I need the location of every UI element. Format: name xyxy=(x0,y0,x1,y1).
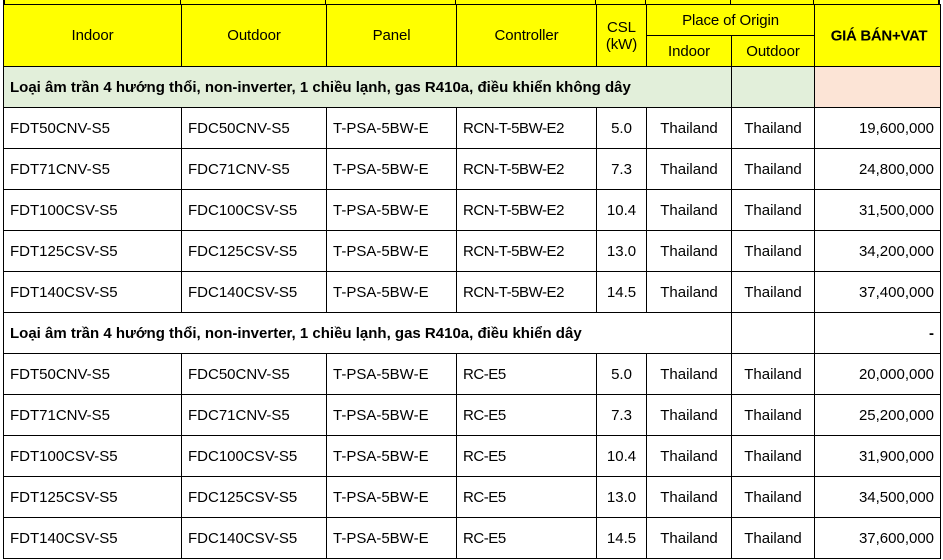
cell-indoor-model[interactable]: FDT100CSV-S5 xyxy=(4,436,182,477)
cell-outdoor-model[interactable]: FDC125CSV-S5 xyxy=(182,477,327,518)
cell-origin-indoor[interactable]: Thailand xyxy=(647,108,732,149)
cell-indoor-model[interactable]: FDT50CNV-S5 xyxy=(4,108,182,149)
cell-panel-model[interactable]: T-PSA-5BW-E xyxy=(327,149,457,190)
section-header-row: Loại âm trần 4 hướng thổi, non-inverter,… xyxy=(4,313,941,354)
cell-panel-model[interactable]: T-PSA-5BW-E xyxy=(327,272,457,313)
cell-indoor-model[interactable]: FDT140CSV-S5 xyxy=(4,272,182,313)
table-row: FDT100CSV-S5FDC100CSV-S5T-PSA-5BW-ERC-E5… xyxy=(4,436,941,477)
cell-outdoor-model[interactable]: FDC140CSV-S5 xyxy=(182,272,327,313)
cell-outdoor-model[interactable]: FDC50CNV-S5 xyxy=(182,108,327,149)
cell-csl-kw[interactable]: 10.4 xyxy=(597,190,647,231)
cell-controller-model[interactable]: RC-E5 xyxy=(457,477,597,518)
column-header-csl[interactable]: CSL (kW) xyxy=(597,5,647,67)
column-header-panel[interactable]: Panel xyxy=(327,5,457,67)
cell-origin-indoor[interactable]: Thailand xyxy=(647,149,732,190)
cell-outdoor-model[interactable]: FDC100CSV-S5 xyxy=(182,190,327,231)
cell-price[interactable]: 31,900,000 xyxy=(815,436,941,477)
cell-csl-kw[interactable]: 13.0 xyxy=(597,231,647,272)
cell-csl-kw[interactable]: 7.3 xyxy=(597,149,647,190)
cell-outdoor-model[interactable]: FDC125CSV-S5 xyxy=(182,231,327,272)
cell-price[interactable]: 31,500,000 xyxy=(815,190,941,231)
cell-origin-outdoor[interactable]: Thailand xyxy=(732,231,815,272)
table-body: Loại âm trần 4 hướng thổi, non-inverter,… xyxy=(4,67,941,559)
cell-outdoor-model[interactable]: FDC50CNV-S5 xyxy=(182,354,327,395)
table-row: FDT100CSV-S5FDC100CSV-S5T-PSA-5BW-ERCN-T… xyxy=(4,190,941,231)
price-list-table: Indoor Outdoor Panel Controller CSL (kW)… xyxy=(3,4,941,559)
section-price-cell[interactable] xyxy=(815,67,941,108)
table-row: FDT71CNV-S5FDC71CNV-S5T-PSA-5BW-ERCN-T-5… xyxy=(4,149,941,190)
cell-origin-indoor[interactable]: Thailand xyxy=(647,477,732,518)
price-header-label: GIÁ BÁN+VAT xyxy=(809,27,943,44)
cell-controller-model[interactable]: RCN-T-5BW-E2 xyxy=(457,231,597,272)
cell-price[interactable]: 19,600,000 xyxy=(815,108,941,149)
table-row: FDT71CNV-S5FDC71CNV-S5T-PSA-5BW-ERC-E57.… xyxy=(4,395,941,436)
cell-controller-model[interactable]: RC-E5 xyxy=(457,395,597,436)
cell-origin-outdoor[interactable]: Thailand xyxy=(732,436,815,477)
cell-indoor-model[interactable]: FDT71CNV-S5 xyxy=(4,149,182,190)
cell-price[interactable]: 25,200,000 xyxy=(815,395,941,436)
cell-panel-model[interactable]: T-PSA-5BW-E xyxy=(327,395,457,436)
cell-outdoor-model[interactable]: FDC140CSV-S5 xyxy=(182,518,327,559)
cell-origin-indoor[interactable]: Thailand xyxy=(647,272,732,313)
cell-controller-model[interactable]: RCN-T-5BW-E2 xyxy=(457,272,597,313)
cell-origin-outdoor[interactable]: Thailand xyxy=(732,395,815,436)
cell-panel-model[interactable]: T-PSA-5BW-E xyxy=(327,231,457,272)
cell-origin-outdoor[interactable]: Thailand xyxy=(732,477,815,518)
cell-origin-indoor[interactable]: Thailand xyxy=(647,395,732,436)
cell-controller-model[interactable]: RC-E5 xyxy=(457,436,597,477)
cell-price[interactable]: 20,000,000 xyxy=(815,354,941,395)
column-header-price[interactable]: GIÁ BÁN+VAT xyxy=(815,5,941,67)
section-spacer-cell[interactable] xyxy=(732,67,815,108)
cell-indoor-model[interactable]: FDT125CSV-S5 xyxy=(4,231,182,272)
cell-csl-kw[interactable]: 14.5 xyxy=(597,518,647,559)
table-header: Indoor Outdoor Panel Controller CSL (kW)… xyxy=(4,5,941,67)
column-header-indoor[interactable]: Indoor xyxy=(4,5,182,67)
cell-panel-model[interactable]: T-PSA-5BW-E xyxy=(327,518,457,559)
csl-label-line2: (kW) xyxy=(603,36,640,53)
cell-origin-indoor[interactable]: Thailand xyxy=(647,354,732,395)
cell-csl-kw[interactable]: 14.5 xyxy=(597,272,647,313)
cell-origin-outdoor[interactable]: Thailand xyxy=(732,518,815,559)
cell-csl-kw[interactable]: 5.0 xyxy=(597,354,647,395)
cell-indoor-model[interactable]: FDT140CSV-S5 xyxy=(4,518,182,559)
cell-csl-kw[interactable]: 5.0 xyxy=(597,108,647,149)
cell-csl-kw[interactable]: 10.4 xyxy=(597,436,647,477)
cell-price[interactable]: 37,600,000 xyxy=(815,518,941,559)
cell-price[interactable]: 37,400,000 xyxy=(815,272,941,313)
cell-panel-model[interactable]: T-PSA-5BW-E xyxy=(327,190,457,231)
section-spacer-cell[interactable] xyxy=(732,313,815,354)
column-header-controller[interactable]: Controller xyxy=(457,5,597,67)
cell-origin-outdoor[interactable]: Thailand xyxy=(732,149,815,190)
cell-origin-indoor[interactable]: Thailand xyxy=(647,518,732,559)
cell-controller-model[interactable]: RCN-T-5BW-E2 xyxy=(457,190,597,231)
cell-origin-indoor[interactable]: Thailand xyxy=(647,436,732,477)
table-row: FDT125CSV-S5FDC125CSV-S5T-PSA-5BW-ERC-E5… xyxy=(4,477,941,518)
csl-label-line1: CSL xyxy=(603,19,640,36)
section-title[interactable]: Loại âm trần 4 hướng thổi, non-inverter,… xyxy=(4,67,732,108)
cell-controller-model[interactable]: RC-E5 xyxy=(457,354,597,395)
cell-csl-kw[interactable]: 13.0 xyxy=(597,477,647,518)
cell-outdoor-model[interactable]: FDC71CNV-S5 xyxy=(182,395,327,436)
cell-origin-outdoor[interactable]: Thailand xyxy=(732,190,815,231)
column-header-place-of-origin[interactable]: Place of Origin xyxy=(647,5,815,36)
cell-indoor-model[interactable]: FDT125CSV-S5 xyxy=(4,477,182,518)
cell-panel-model[interactable]: T-PSA-5BW-E xyxy=(327,436,457,477)
cell-outdoor-model[interactable]: FDC100CSV-S5 xyxy=(182,436,327,477)
cell-origin-outdoor[interactable]: Thailand xyxy=(732,108,815,149)
cell-indoor-model[interactable]: FDT71CNV-S5 xyxy=(4,395,182,436)
section-title[interactable]: Loại âm trần 4 hướng thổi, non-inverter,… xyxy=(4,313,732,354)
table-row: FDT140CSV-S5FDC140CSV-S5T-PSA-5BW-ERCN-T… xyxy=(4,272,941,313)
section-price-cell[interactable]: - xyxy=(815,313,941,354)
cell-origin-outdoor[interactable]: Thailand xyxy=(732,272,815,313)
cell-origin-indoor[interactable]: Thailand xyxy=(647,231,732,272)
cell-controller-model[interactable]: RCN-T-5BW-E2 xyxy=(457,149,597,190)
cell-price[interactable]: 34,200,000 xyxy=(815,231,941,272)
section-header-row: Loại âm trần 4 hướng thổi, non-inverter,… xyxy=(4,67,941,108)
cell-controller-model[interactable]: RC-E5 xyxy=(457,518,597,559)
cell-indoor-model[interactable]: FDT100CSV-S5 xyxy=(4,190,182,231)
table-row: FDT50CNV-S5FDC50CNV-S5T-PSA-5BW-ERCN-T-5… xyxy=(4,108,941,149)
column-header-origin-outdoor[interactable]: Outdoor xyxy=(732,36,815,67)
cell-outdoor-model[interactable]: FDC71CNV-S5 xyxy=(182,149,327,190)
table-row: FDT140CSV-S5FDC140CSV-S5T-PSA-5BW-ERC-E5… xyxy=(4,518,941,559)
cell-panel-model[interactable]: T-PSA-5BW-E xyxy=(327,108,457,149)
column-header-origin-indoor[interactable]: Indoor xyxy=(647,36,732,67)
cell-controller-model[interactable]: RCN-T-5BW-E2 xyxy=(457,108,597,149)
cell-price[interactable]: 24,800,000 xyxy=(815,149,941,190)
cell-price[interactable]: 34,500,000 xyxy=(815,477,941,518)
spreadsheet-page: Indoor Outdoor Panel Controller CSL (kW)… xyxy=(0,0,943,560)
cell-panel-model[interactable]: T-PSA-5BW-E xyxy=(327,477,457,518)
cell-indoor-model[interactable]: FDT50CNV-S5 xyxy=(4,354,182,395)
cell-panel-model[interactable]: T-PSA-5BW-E xyxy=(327,354,457,395)
cell-origin-indoor[interactable]: Thailand xyxy=(647,190,732,231)
cell-origin-outdoor[interactable]: Thailand xyxy=(732,354,815,395)
table-row: FDT125CSV-S5FDC125CSV-S5T-PSA-5BW-ERCN-T… xyxy=(4,231,941,272)
cell-csl-kw[interactable]: 7.3 xyxy=(597,395,647,436)
column-header-outdoor[interactable]: Outdoor xyxy=(182,5,327,67)
table-row: FDT50CNV-S5FDC50CNV-S5T-PSA-5BW-ERC-E55.… xyxy=(4,354,941,395)
